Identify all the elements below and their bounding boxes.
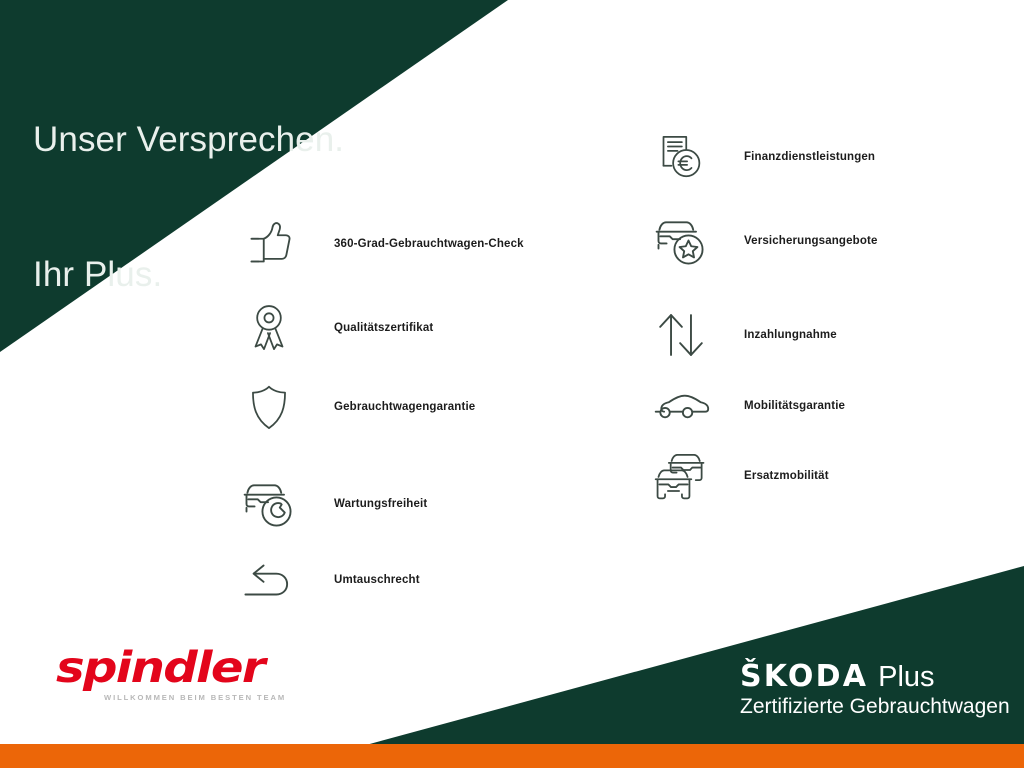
benefit-label: Qualitätszertifikat: [334, 322, 433, 334]
document-euro-icon: [648, 124, 714, 190]
benefit-item: Umtauschrecht: [236, 545, 420, 615]
benefit-label: Ersatzmobilität: [744, 470, 829, 482]
headline-line-1: Unser Versprechen.: [33, 117, 344, 162]
car-side-icon: [648, 373, 714, 439]
benefit-label: Wartungsfreiheit: [334, 498, 427, 510]
promo-banner: Unser Versprechen. Ihr Plus. 360-Grad-Ge…: [0, 0, 1024, 768]
benefit-item: 360-Grad-Gebrauchtwagen-Check: [236, 209, 524, 279]
two-cars-icon: [648, 443, 714, 509]
award-rosette-icon: [236, 295, 302, 361]
dealer-tagline: WILLKOMMEN BEIM BESTEN TEAM: [104, 693, 311, 702]
brand-logo-row: ŠKODA Plus: [740, 659, 1010, 694]
benefit-item: Wartungsfreiheit: [236, 469, 427, 539]
shield-icon: [236, 374, 302, 440]
brand-suffix: Plus: [878, 661, 934, 694]
orange-bottom-bar: [0, 744, 1024, 768]
brand-logo: ŠKODA Plus Zertifizierte Gebrauchtwagen: [740, 659, 1010, 719]
benefit-label: Mobilitätsgarantie: [744, 400, 845, 412]
benefit-label: Umtauschrecht: [334, 574, 420, 586]
up-down-arrows-icon: [648, 302, 714, 368]
benefit-item: Versicherungsangebote: [648, 206, 878, 276]
brand-subline: Zertifizierte Gebrauchtwagen: [740, 695, 1010, 719]
benefit-item: Finanzdienstleistungen: [648, 122, 875, 192]
dealer-wordmark: spindler: [56, 645, 342, 691]
car-wrench-icon: [236, 471, 302, 537]
benefit-label: 360-Grad-Gebrauchtwagen-Check: [334, 238, 524, 250]
car-star-icon: [648, 208, 714, 274]
benefit-item: Gebrauchtwagengarantie: [236, 372, 475, 442]
benefit-label: Versicherungsangebote: [744, 235, 878, 247]
dealer-logo: spindler WILLKOMMEN BEIM BESTEN TEAM: [56, 645, 311, 702]
benefit-label: Finanzdienstleistungen: [744, 151, 875, 163]
thumbs-up-icon: [236, 211, 302, 277]
brand-wordmark: ŠKODA: [740, 659, 868, 694]
benefit-label: Inzahlungnahme: [744, 329, 837, 341]
benefit-item: Qualitätszertifikat: [236, 293, 433, 363]
benefit-item: Ersatzmobilität: [648, 441, 829, 511]
return-arrow-icon: [236, 547, 302, 613]
benefit-label: Gebrauchtwagengarantie: [334, 401, 475, 413]
benefit-item: Mobilitätsgarantie: [648, 371, 845, 441]
benefit-item: Inzahlungnahme: [648, 300, 837, 370]
